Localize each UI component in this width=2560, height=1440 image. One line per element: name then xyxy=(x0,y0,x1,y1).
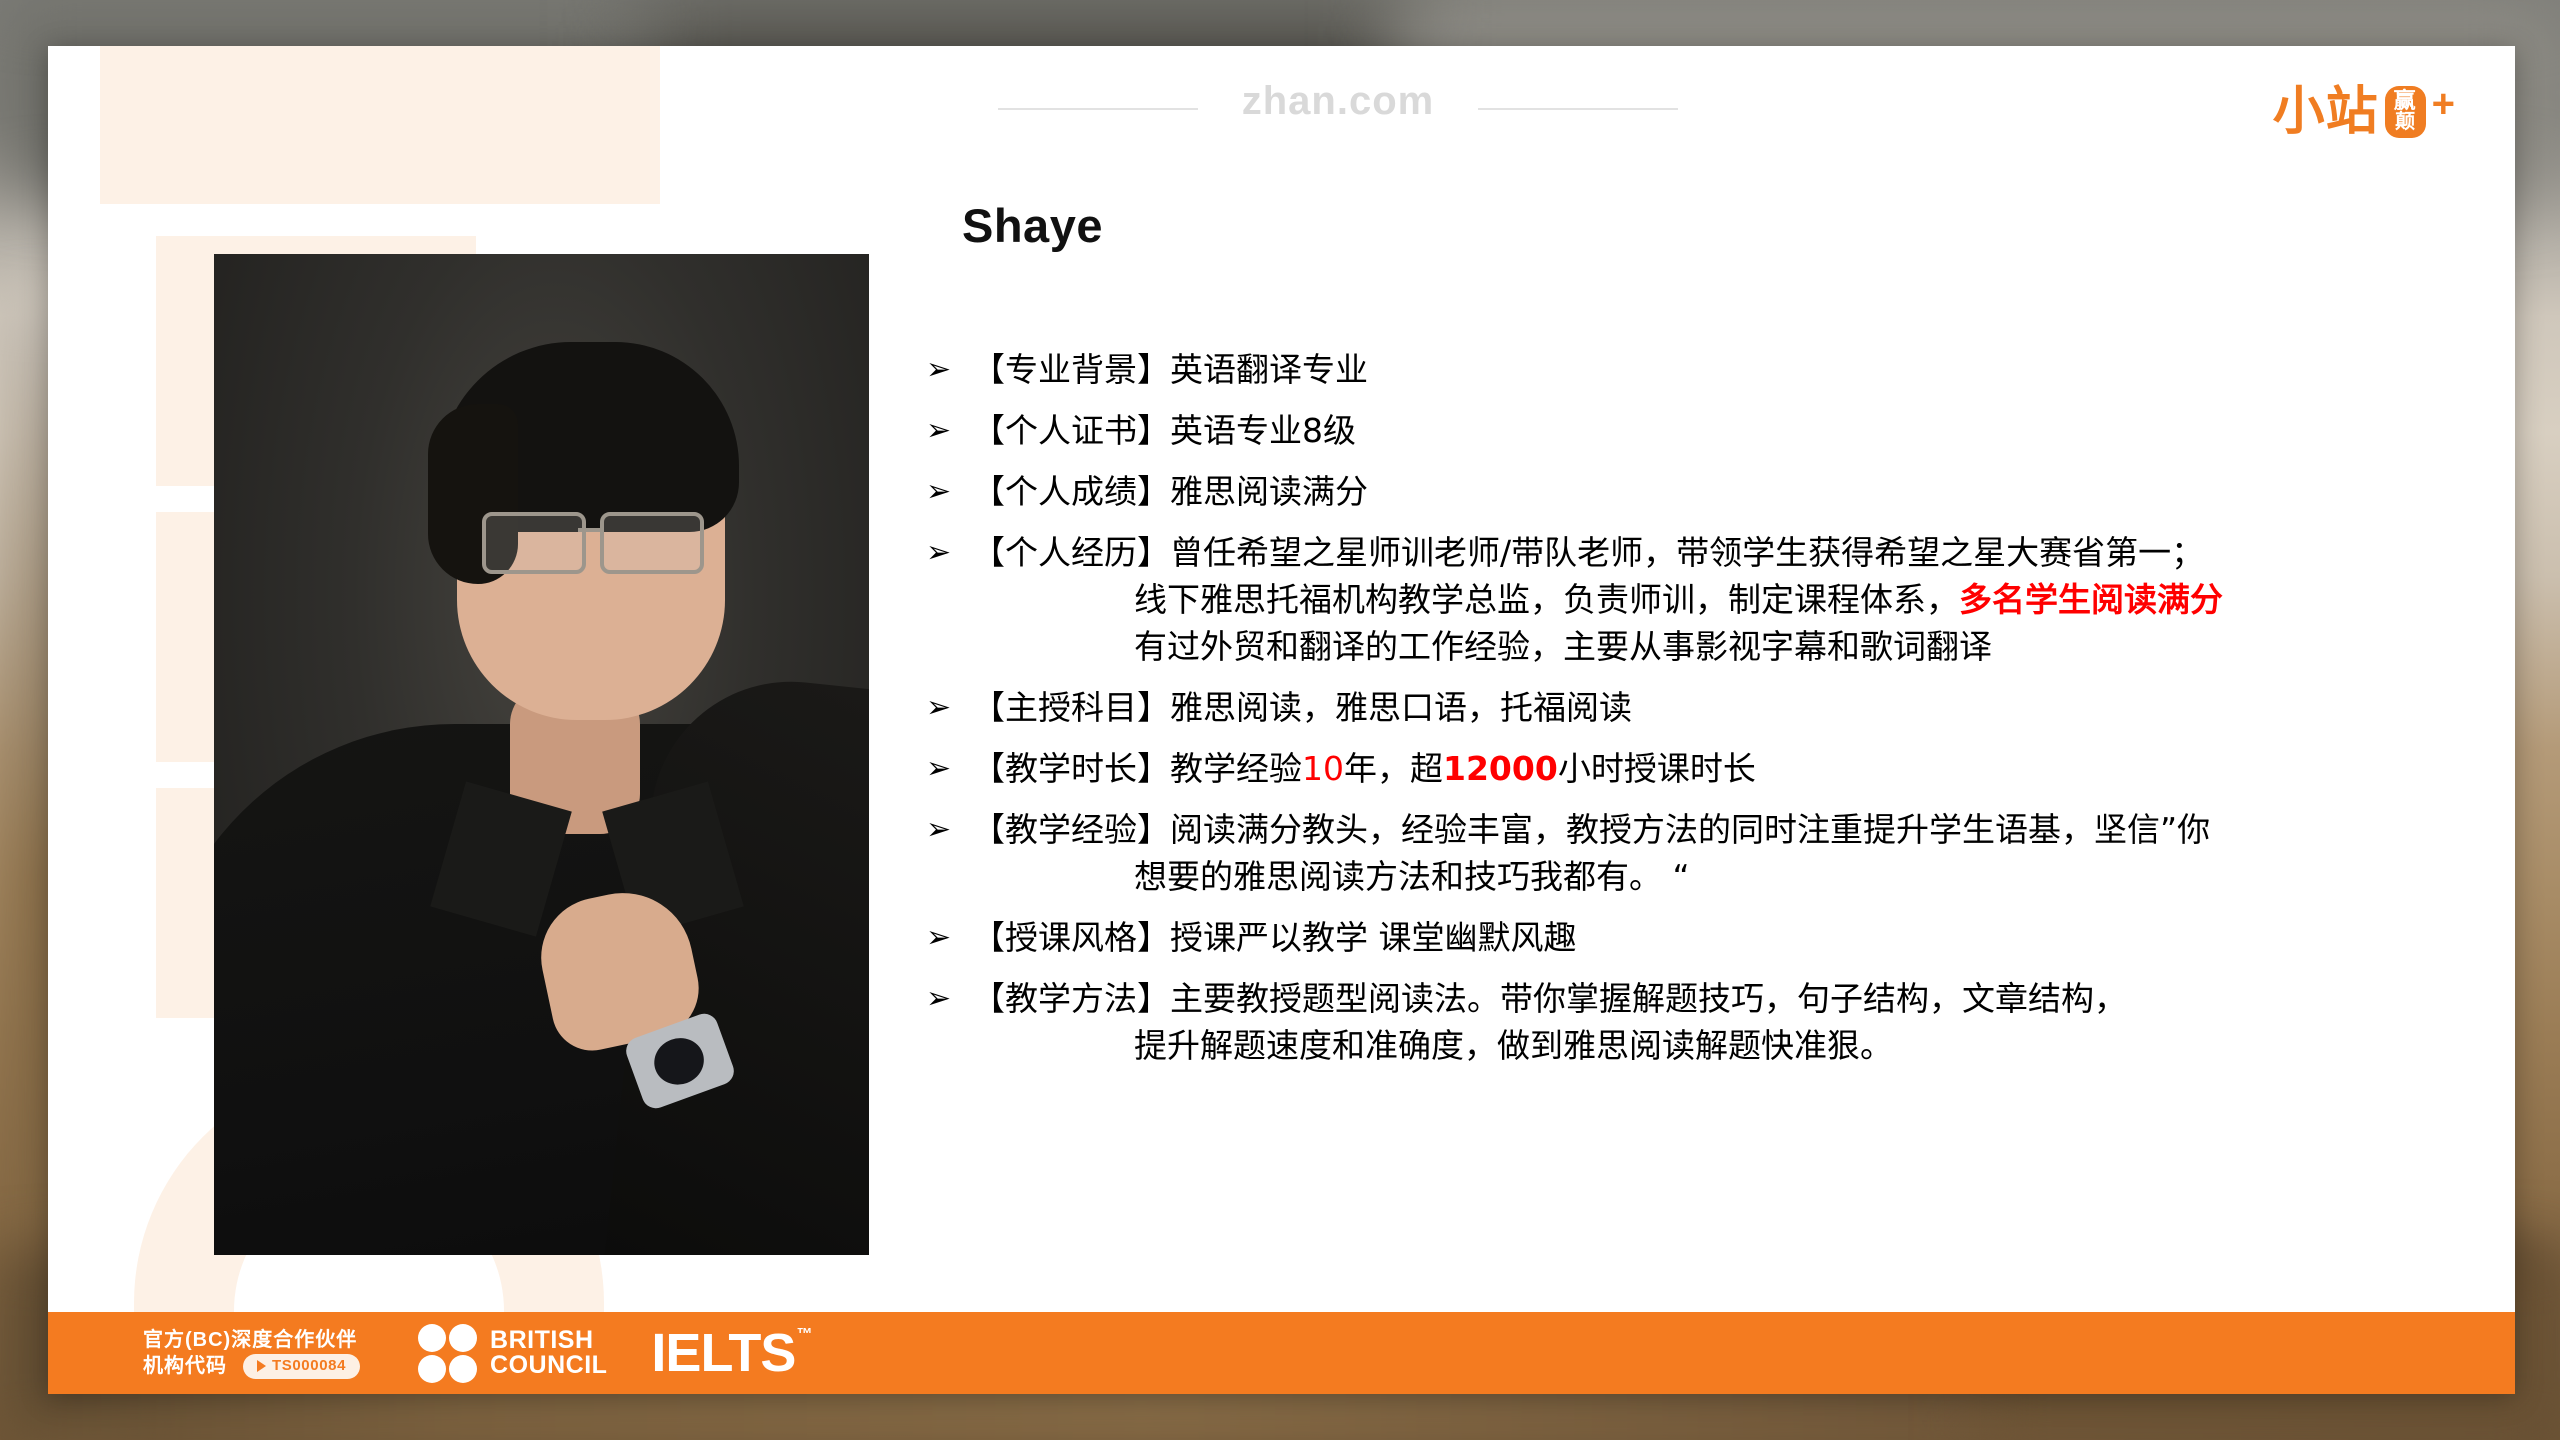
bullet-item: ➢【个人证书】英语专业8级 xyxy=(926,407,2486,454)
logo-badge-line1: 赢 xyxy=(2394,89,2417,112)
bc-dot-4 xyxy=(449,1355,477,1383)
bullet-item: ➢【个人经历】曾任希望之星师训老师/带队老师，带领学生获得希望之星大赛省第一；线… xyxy=(926,529,2486,670)
bullet-line: 【主授科目】雅思阅读，雅思口语，托福阅读 xyxy=(972,684,2486,731)
bullet-text-body: 【授课风格】授课严以教学 课堂幽默风趣 xyxy=(972,914,2486,961)
british-council-line2: COUNCIL xyxy=(490,1353,607,1379)
header-rule-right xyxy=(1478,108,1678,110)
bullet-text-segment: 【主授科目】雅思阅读，雅思口语，托福阅读 xyxy=(972,688,1632,727)
bullet-line: 线下雅思托福机构教学总监，负责师训，制定课程体系，多名学生阅读满分 xyxy=(972,576,2486,623)
brand-wordmark: zhan.com xyxy=(1203,79,1473,124)
bc-dot-1 xyxy=(418,1324,446,1352)
institution-code-value: TS000084 xyxy=(272,1356,346,1376)
bullet-line: 【个人经历】曾任希望之星师训老师/带队老师，带领学生获得希望之星大赛省第一； xyxy=(972,529,2486,576)
bullet-item: ➢【教学时长】教学经验10年，超12000小时授课时长 xyxy=(926,745,2486,792)
ielts-logo: IELTS ™ xyxy=(651,1322,795,1384)
bullet-line: 【教学方法】主要教授题型阅读法。带你掌握解题技巧，句子结构，文章结构， xyxy=(972,975,2486,1022)
logo-badge-line2: 颠 xyxy=(2395,112,2415,133)
play-triangle-icon xyxy=(257,1360,266,1372)
bullet-line: 想要的雅思阅读方法和技巧我都有。 “ xyxy=(972,853,2486,900)
bullet-line: 【授课风格】授课严以教学 课堂幽默风趣 xyxy=(972,914,2486,961)
institution-code-row: 机构代码 TS000084 xyxy=(143,1353,360,1379)
instructor-portrait-photo xyxy=(214,254,869,1255)
bullet-line: 【个人证书】英语专业8级 xyxy=(972,407,2486,454)
bullet-text-body: 【个人经历】曾任希望之星师训老师/带队老师，带领学生获得希望之星大赛省第一；线下… xyxy=(972,529,2486,670)
bullet-item: ➢【专业背景】英语翻译专业 xyxy=(926,346,2486,393)
slide-card: zhan.com 小站 赢 颠 + Shaye ➢【专业背景】英语翻译专业 xyxy=(48,46,2515,1394)
bullet-arrow-icon: ➢ xyxy=(926,914,972,961)
bullet-arrow-icon: ➢ xyxy=(926,529,972,670)
bullet-line: 提升解题速度和准确度，做到雅思阅读解题快准狠。 xyxy=(972,1022,2486,1069)
ielts-trademark-icon: ™ xyxy=(796,1326,811,1344)
bullet-text-segment: 想要的雅思阅读方法和技巧我都有。 “ xyxy=(1134,857,1690,896)
logo-plus-icon: + xyxy=(2432,84,2455,124)
bullet-arrow-icon: ➢ xyxy=(926,346,972,393)
slide-footer: 官方(BC)深度合作伙伴 机构代码 TS000084 BRITISH COUNC… xyxy=(48,1312,2515,1394)
logo-chinese-text: 小站 xyxy=(2273,86,2379,138)
bullet-text-segment: 【个人经历】曾任希望之星师训老师/带队老师，带领学生获得希望之星大赛省第一； xyxy=(972,533,2204,572)
bullet-arrow-icon: ➢ xyxy=(926,975,972,1069)
bullet-text-segment: 【个人证书】英语专业8级 xyxy=(972,411,1356,450)
bullet-text-body: 【个人证书】英语专业8级 xyxy=(972,407,2486,454)
partner-label: 官方(BC)深度合作伙伴 xyxy=(143,1327,360,1353)
bullet-arrow-icon: ➢ xyxy=(926,468,972,515)
ielts-text: IELTS xyxy=(651,1323,795,1383)
british-council-logo: BRITISH COUNCIL xyxy=(418,1324,607,1383)
bullet-text-body: 【主授科目】雅思阅读，雅思口语，托福阅读 xyxy=(972,684,2486,731)
british-council-line1: BRITISH xyxy=(490,1328,607,1354)
bullet-text-segment: 【授课风格】授课严以教学 课堂幽默风趣 xyxy=(972,918,1577,957)
bullet-text-segment: 12000 xyxy=(1443,749,1558,788)
bullet-item: ➢【教学经验】阅读满分教头，经验丰富，教授方法的同时注重提升学生语基，坚信”你想… xyxy=(926,806,2486,900)
portrait-glasses xyxy=(482,512,712,568)
company-logo: 小站 赢 颠 + xyxy=(2273,84,2455,140)
bullet-text-segment: 小时授课时长 xyxy=(1558,749,1756,788)
bullet-text-segment: 【专业背景】英语翻译专业 xyxy=(972,350,1368,389)
page-title: Shaye xyxy=(962,198,1103,253)
bc-dot-3 xyxy=(418,1355,446,1383)
bullet-item: ➢【个人成绩】雅思阅读满分 xyxy=(926,468,2486,515)
bullet-text-segment: 提升解题速度和准确度，做到雅思阅读解题快准狠。 xyxy=(1134,1026,1893,1065)
bullet-text-segment: 多名学生阅读满分 xyxy=(1959,580,2223,619)
bullet-arrow-icon: ➢ xyxy=(926,684,972,731)
british-council-dots-icon xyxy=(418,1324,477,1383)
institution-code-label: 机构代码 xyxy=(143,1353,227,1379)
bullet-line: 【教学时长】教学经验10年，超12000小时授课时长 xyxy=(972,745,2486,792)
institution-code-pill: TS000084 xyxy=(243,1354,360,1379)
bullet-item: ➢【授课风格】授课严以教学 课堂幽默风趣 xyxy=(926,914,2486,961)
bullet-arrow-icon: ➢ xyxy=(926,806,972,900)
bullet-text-body: 【教学经验】阅读满分教头，经验丰富，教授方法的同时注重提升学生语基，坚信”你想要… xyxy=(972,806,2486,900)
bullet-text-body: 【教学方法】主要教授题型阅读法。带你掌握解题技巧，句子结构，文章结构，提升解题速… xyxy=(972,975,2486,1069)
partner-info: 官方(BC)深度合作伙伴 机构代码 TS000084 xyxy=(143,1327,360,1380)
slide-header: zhan.com 小站 赢 颠 + xyxy=(48,46,2515,166)
bullet-text-segment: 年，超 xyxy=(1344,749,1443,788)
profile-bullet-list: ➢【专业背景】英语翻译专业➢【个人证书】英语专业8级➢【个人成绩】雅思阅读满分➢… xyxy=(926,346,2486,1083)
bullet-text-segment: 【教学方法】主要教授题型阅读法。带你掌握解题技巧，句子结构，文章结构， xyxy=(972,979,2127,1018)
bullet-line: 【专业背景】英语翻译专业 xyxy=(972,346,2486,393)
bullet-text-segment: 10 xyxy=(1302,749,1344,788)
british-council-text: BRITISH COUNCIL xyxy=(490,1328,607,1379)
bullet-item: ➢【主授科目】雅思阅读，雅思口语，托福阅读 xyxy=(926,684,2486,731)
bullet-text-segment: 【教学经验】阅读满分教头，经验丰富，教授方法的同时注重提升学生语基，坚信”你 xyxy=(972,810,2210,849)
bullet-text-body: 【专业背景】英语翻译专业 xyxy=(972,346,2486,393)
bullet-line: 【教学经验】阅读满分教头，经验丰富，教授方法的同时注重提升学生语基，坚信”你 xyxy=(972,806,2486,853)
bullet-text-segment: 【个人成绩】雅思阅读满分 xyxy=(972,472,1368,511)
bullet-text-segment: 【教学时长】教学经验 xyxy=(972,749,1302,788)
bullet-arrow-icon: ➢ xyxy=(926,745,972,792)
logo-badge: 赢 颠 xyxy=(2385,86,2426,138)
bullet-text-segment: 线下雅思托福机构教学总监，负责师训，制定课程体系， xyxy=(1134,580,1959,619)
bullet-text-body: 【教学时长】教学经验10年，超12000小时授课时长 xyxy=(972,745,2486,792)
bullet-line: 有过外贸和翻译的工作经验，主要从事影视字幕和歌词翻译 xyxy=(972,623,2486,670)
bullet-text-segment: 有过外贸和翻译的工作经验，主要从事影视字幕和歌词翻译 xyxy=(1134,627,1992,666)
glasses-lens-left xyxy=(482,512,586,574)
bullet-text-body: 【个人成绩】雅思阅读满分 xyxy=(972,468,2486,515)
bc-dot-2 xyxy=(449,1324,477,1352)
bullet-item: ➢【教学方法】主要教授题型阅读法。带你掌握解题技巧，句子结构，文章结构，提升解题… xyxy=(926,975,2486,1069)
glasses-lens-right xyxy=(600,512,704,574)
header-rule-left xyxy=(998,108,1198,110)
bullet-arrow-icon: ➢ xyxy=(926,407,972,454)
bullet-line: 【个人成绩】雅思阅读满分 xyxy=(972,468,2486,515)
